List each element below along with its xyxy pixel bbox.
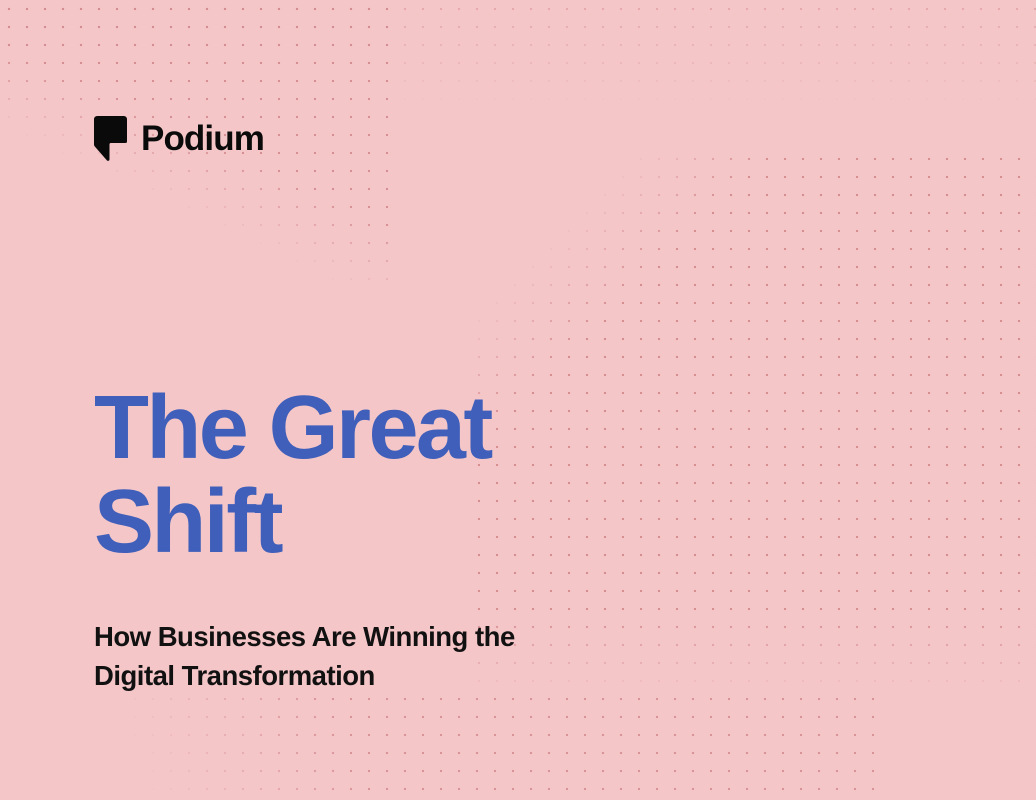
page-title: The Great Shift [94,381,491,569]
dot-pattern-right-diamond [470,150,1036,710]
brand-wordmark: Podium [141,121,264,156]
dot-pattern-bottom-center [90,690,880,800]
page-subtitle: How Businesses Are Winning the Digital T… [94,617,515,695]
podium-speech-bubble-icon [94,116,127,161]
dot-pattern-top-strip [0,0,1036,120]
brand-logo[interactable]: Podium [94,116,264,161]
cover-slide: Podium The Great Shift How Businesses Ar… [0,0,1036,800]
